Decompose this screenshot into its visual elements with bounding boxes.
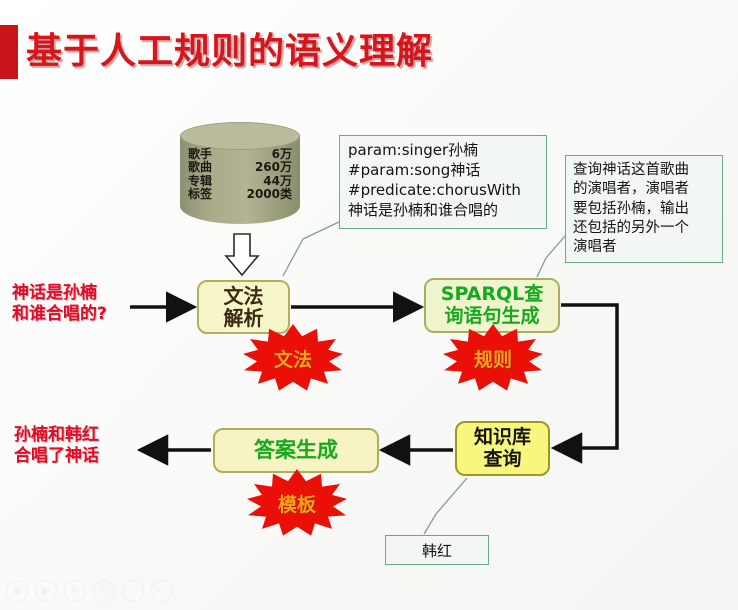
output-answer-text: 孙楠和韩红 合唱了神话 (14, 425, 189, 468)
callout-result-hanhong: 韩红 (385, 535, 489, 565)
kb-stat-label: 标签 (188, 188, 212, 201)
star-label: 模板 (278, 490, 316, 517)
process-box-grammar-parse[interactable]: 文法 解析 (197, 280, 290, 334)
star-badge-grammar: 文法 (243, 324, 343, 392)
cylinder-top-ellipse (180, 122, 300, 150)
input-question-text: 神话是孙楠 和谁合唱的? (12, 283, 187, 326)
star-badge-rule: 规则 (443, 324, 543, 392)
process-box-sparql-generate[interactable]: SPARQL查 询语句生成 (424, 278, 560, 333)
kb-stat-value: 2000类 (247, 188, 292, 201)
watermark-toolbar: ◉ ▶ ✎ ⎘ ⌕ ⋯ (6, 580, 173, 602)
table-row: 歌曲 260万 (184, 161, 296, 174)
kb-stat-label: 歌曲 (188, 161, 212, 174)
kb-stat-value: 6万 (272, 148, 292, 161)
process-box-answer-generate[interactable]: 答案生成 (213, 428, 379, 473)
star-label: 规则 (474, 345, 512, 372)
callout-param-annotation: param:singer孙楠 #param:song神话 #predicate:… (339, 135, 547, 229)
slide-canvas: 基于人工规则的语义理解 歌手 6万 歌曲 260万 专辑 44万 标签 2000… (0, 0, 738, 610)
knowledge-base-cylinder: 歌手 6万 歌曲 260万 专辑 44万 标签 2000类 (180, 122, 300, 232)
kb-stats-table: 歌手 6万 歌曲 260万 专辑 44万 标签 2000类 (184, 148, 296, 202)
process-box-kb-query[interactable]: 知识库 查询 (455, 421, 550, 476)
search-icon: ⌕ (122, 580, 144, 602)
star-badge-template: 模板 (247, 469, 347, 537)
table-row: 标签 2000类 (184, 188, 296, 201)
play-icon: ▶ (35, 580, 57, 602)
star-label: 文法 (274, 345, 312, 372)
title-accent-bar (0, 25, 18, 79)
record-icon: ◉ (6, 580, 28, 602)
kb-stat-value: 260万 (255, 161, 292, 174)
callout-intent-annotation: 查询神话这首歌曲 的演唱者，演唱者 要包括孙楠，输出 还包括的另外一个 演唱者 (565, 155, 723, 263)
copy-icon: ⎘ (93, 580, 115, 602)
more-icon: ⋯ (151, 580, 173, 602)
edit-icon: ✎ (64, 580, 86, 602)
page-title: 基于人工规则的语义理解 (26, 22, 433, 74)
